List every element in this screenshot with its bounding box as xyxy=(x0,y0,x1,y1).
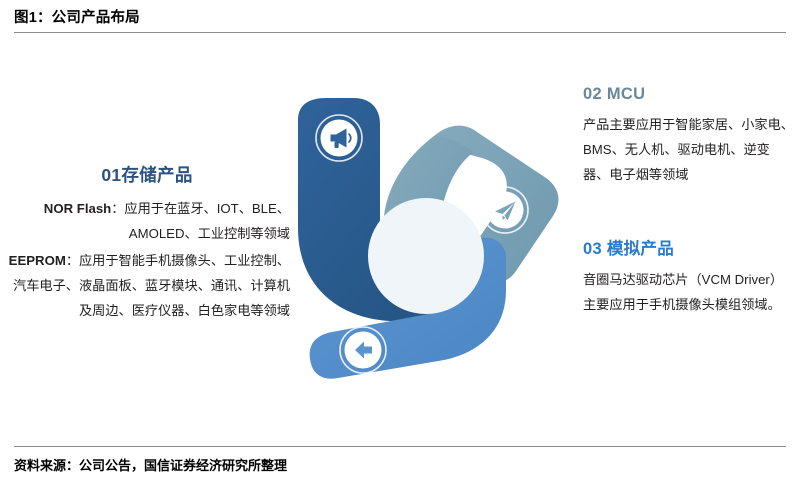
footer-divider xyxy=(14,446,786,447)
figure-source: 资料来源：公司公告，国信证券经济研究所整理 xyxy=(14,455,287,474)
storage-heading: 01存储产品 xyxy=(4,162,290,187)
storage-item-eeprom: EEPROM：应用于智能手机摄像头、工业控制、汽车电子、液晶面板、蓝牙模块、通讯… xyxy=(4,248,290,323)
analog-heading: 03 模拟产品 xyxy=(583,235,795,259)
pinwheel-center-circle xyxy=(368,198,484,314)
mcu-body: 产品主要应用于智能家居、小家电、BMS、无人机、驱动电机、逆变器、电子烟等领域 xyxy=(583,112,795,187)
paper-plane-icon xyxy=(482,187,528,233)
mcu-heading: 02 MCU xyxy=(583,85,795,104)
storage-item-nor-flash-body: 应用于在蓝牙、IOT、BLE、AMOLED、工业控制等领域 xyxy=(124,201,290,241)
storage-item-eeprom-sep: ： xyxy=(66,253,79,268)
storage-item-nor-flash: NOR Flash：应用于在蓝牙、IOT、BLE、AMOLED、工业控制等领域 xyxy=(4,196,290,246)
megaphone-icon xyxy=(316,115,362,161)
product-layout-pinwheel-graphic xyxy=(278,78,578,388)
analog-body: 音圈马达驱动芯片（VCM Driver）主要应用于手机摄像头模组领域。 xyxy=(583,267,795,317)
section-storage: 01存储产品 NOR Flash：应用于在蓝牙、IOT、BLE、AMOLED、工… xyxy=(4,162,290,323)
figure-title: 图1：公司产品布局 xyxy=(14,8,786,28)
arrow-left-icon xyxy=(340,327,386,373)
header-divider xyxy=(14,32,786,33)
section-analog: 03 模拟产品 音圈马达驱动芯片（VCM Driver）主要应用于手机摄像头模组… xyxy=(583,235,795,317)
storage-item-nor-flash-sep: ： xyxy=(111,201,124,216)
section-mcu: 02 MCU 产品主要应用于智能家居、小家电、BMS、无人机、驱动电机、逆变器、… xyxy=(583,85,795,187)
storage-item-eeprom-lead: EEPROM xyxy=(9,253,66,268)
storage-item-nor-flash-lead: NOR Flash xyxy=(44,201,111,216)
